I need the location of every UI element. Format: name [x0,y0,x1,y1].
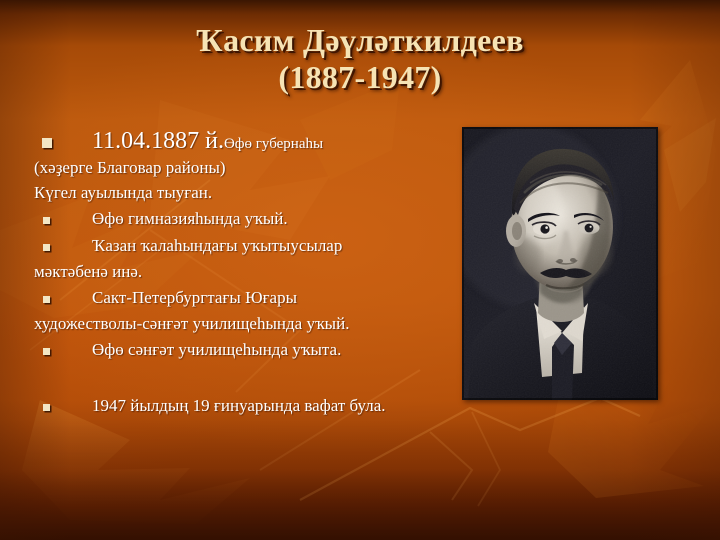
bullet-item-3: Ҡазан ҡалаһындағы уҡытыусылар [30,236,460,262]
square-bullet-icon [30,138,92,148]
square-bullet-icon [30,296,92,303]
bullet-item-1: 11.04.1887 й. Өфө губернаһы [30,128,460,158]
bullet-2-text: Өфө гимназияһында уҡый. [92,209,288,229]
bullet-spacer [30,366,460,396]
bullet-item-5: Өфө сәнғәт училищеһында уҡыта. [30,340,460,366]
bullet-1-lead: 11.04.1887 й. [92,128,224,155]
title-line-1: Ҡасим Дәүләткилдеев [0,22,720,59]
bullet-3-text: Ҡазан ҡалаһындағы уҡытыусылар [92,236,342,256]
slide-title: Ҡасим Дәүләткилдеев (1887-1947) [0,22,720,96]
bullet-item-6: 1947 йылдың 19 ғинуарында вафат була. [30,396,460,422]
bullet-4-text: Сакт-Петербургтағы Юғары [92,288,297,308]
portrait-photo [462,127,658,400]
bullet-1-continuation-2: Күгел ауылында тыуған. [30,183,460,209]
bullet-3-continuation-1: мәктәбенә инә. [30,262,460,288]
square-bullet-icon [30,217,92,224]
slide-body-text: 11.04.1887 й. Өфө губернаһы (хәҙерге Бла… [30,128,460,422]
title-line-2: (1887-1947) [0,59,720,96]
bullet-4-continuation-1-text: художестволы-сәнғәт училищеһында уҡый. [30,314,349,334]
bullet-1-continuation-1-text: (хәҙерге Благовар районы) [30,158,226,178]
bullet-item-2: Өфө гимназияһында уҡый. [30,209,460,236]
bullet-4-continuation-1: художестволы-сәнғәт училищеһында уҡый. [30,314,460,340]
portrait-photo-image [462,127,658,400]
bullet-3-continuation-1-text: мәктәбенә инә. [30,262,142,282]
bullet-1-continuation-2-text: Күгел ауылында тыуған. [30,183,212,203]
bullet-6-text: 1947 йылдың 19 ғинуарында вафат була. [92,396,386,416]
square-bullet-icon [30,244,92,251]
bullet-5-text: Өфө сәнғәт училищеһында уҡыта. [92,340,341,360]
bullet-item-4: Сакт-Петербургтағы Юғары [30,288,460,314]
square-bullet-icon [30,348,92,355]
presentation-slide: Ҡасим Дәүләткилдеев (1887-1947) 11.04.18… [0,0,720,540]
bullet-1-trail: Өфө губернаһы [224,136,323,153]
square-bullet-icon [30,404,92,411]
bullet-1-continuation-1: (хәҙерге Благовар районы) [30,158,460,183]
